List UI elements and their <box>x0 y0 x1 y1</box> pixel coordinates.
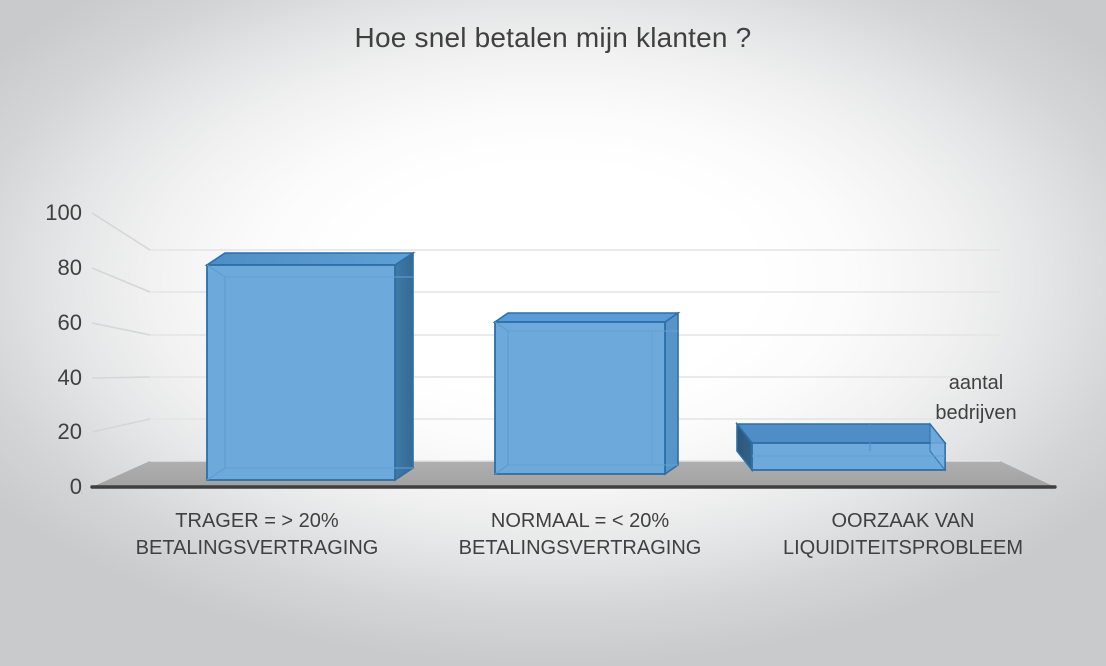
y-tick-80: 80 <box>20 257 82 279</box>
category-label-normaal-line2: BETALINGSVERTRAGING <box>435 535 725 562</box>
category-label-oorzaak-line2: LIQUIDITEITSPROBLEEM <box>758 535 1048 562</box>
back-wall-gridlines <box>150 250 1000 461</box>
bar-3d-trager <box>207 253 413 480</box>
chart-floor <box>92 461 1055 487</box>
category-label-normaal-line1: NORMAAL = < 20% <box>435 508 725 535</box>
y-tick-60: 60 <box>20 312 82 334</box>
chart-legend[interactable]: aantal bedrijven <box>920 368 1032 428</box>
category-label-normaal: NORMAAL = < 20% BETALINGSVERTRAGING <box>435 508 725 562</box>
chart-container: Hoe snel betalen mijn klanten ? <box>0 0 1106 666</box>
bar-3d-normaal <box>495 313 678 474</box>
y-tick-20: 20 <box>20 421 82 443</box>
category-label-trager: TRAGER = > 20% BETALINGSVERTRAGING <box>112 508 402 562</box>
chart-title: Hoe snel betalen mijn klanten ? <box>0 22 1106 54</box>
y-axis-tick-labels: 100 80 60 40 20 0 <box>10 0 82 666</box>
legend-item-aantal-bedrijven-line1: aantal <box>920 368 1032 398</box>
left-wall-gridlines <box>92 213 150 432</box>
bar-3d-oorzaak <box>737 424 945 470</box>
y-tick-100: 100 <box>20 202 82 224</box>
y-tick-0: 0 <box>20 476 82 498</box>
y-tick-40: 40 <box>20 367 82 389</box>
category-label-trager-line1: TRAGER = > 20% <box>112 508 402 535</box>
category-label-oorzaak: OORZAAK VAN LIQUIDITEITSPROBLEEM <box>758 508 1048 562</box>
legend-item-aantal-bedrijven-line2: bedrijven <box>920 398 1032 428</box>
category-label-trager-line2: BETALINGSVERTRAGING <box>112 535 402 562</box>
category-label-oorzaak-line1: OORZAAK VAN <box>758 508 1048 535</box>
chart-plot-area <box>0 0 1106 666</box>
